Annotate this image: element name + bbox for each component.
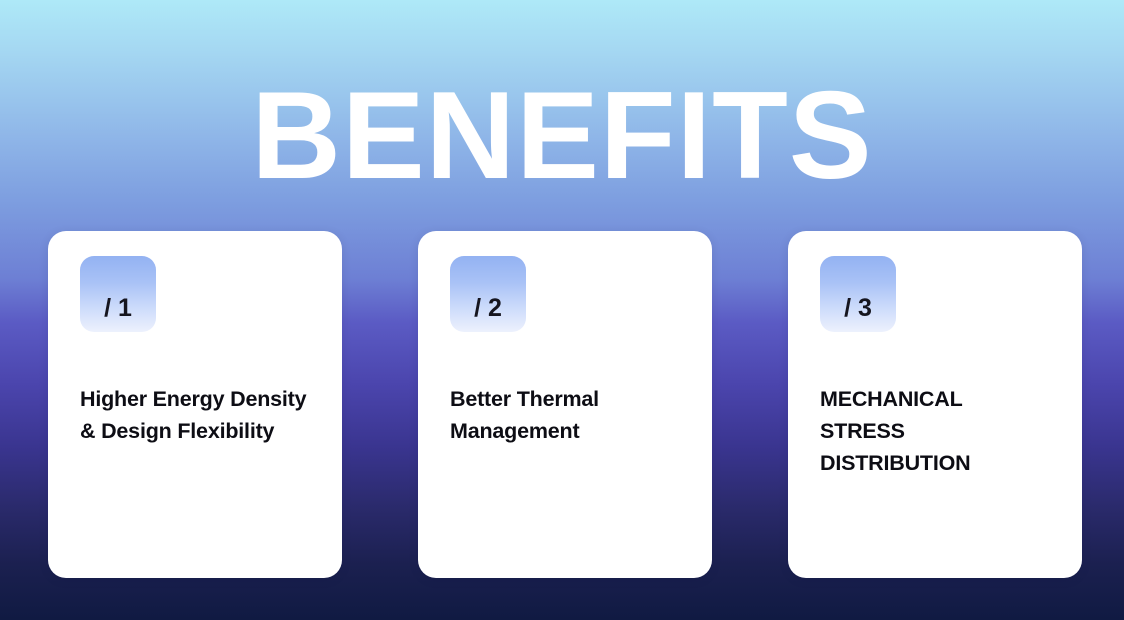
benefit-card-list: / 1 Higher Energy Density & Design Flexi… (48, 231, 1082, 578)
benefit-card-title-2: Better Thermal Management (450, 383, 682, 447)
benefit-card-1[interactable]: / 1 Higher Energy Density & Design Flexi… (48, 231, 342, 578)
badge-number-label: / 2 (474, 296, 502, 321)
badge-number-label: / 1 (104, 296, 132, 321)
page-title: BENEFITS (0, 72, 1124, 200)
benefit-card-2[interactable]: / 2 Better Thermal Management (418, 231, 712, 578)
badge-number-2: / 2 (450, 256, 526, 332)
benefit-card-title-1: Higher Energy Density & Design Flexibili… (80, 383, 312, 447)
benefit-card-3[interactable]: / 3 MECHANICAL STRESS DISTRIBUTION (788, 231, 1082, 578)
badge-number-1: / 1 (80, 256, 156, 332)
slide-canvas: BENEFITS / 1 Higher Energy Density & Des… (0, 0, 1124, 620)
benefit-card-title-3: MECHANICAL STRESS DISTRIBUTION (820, 383, 1052, 479)
badge-number-label: / 3 (844, 296, 872, 321)
badge-number-3: / 3 (820, 256, 896, 332)
